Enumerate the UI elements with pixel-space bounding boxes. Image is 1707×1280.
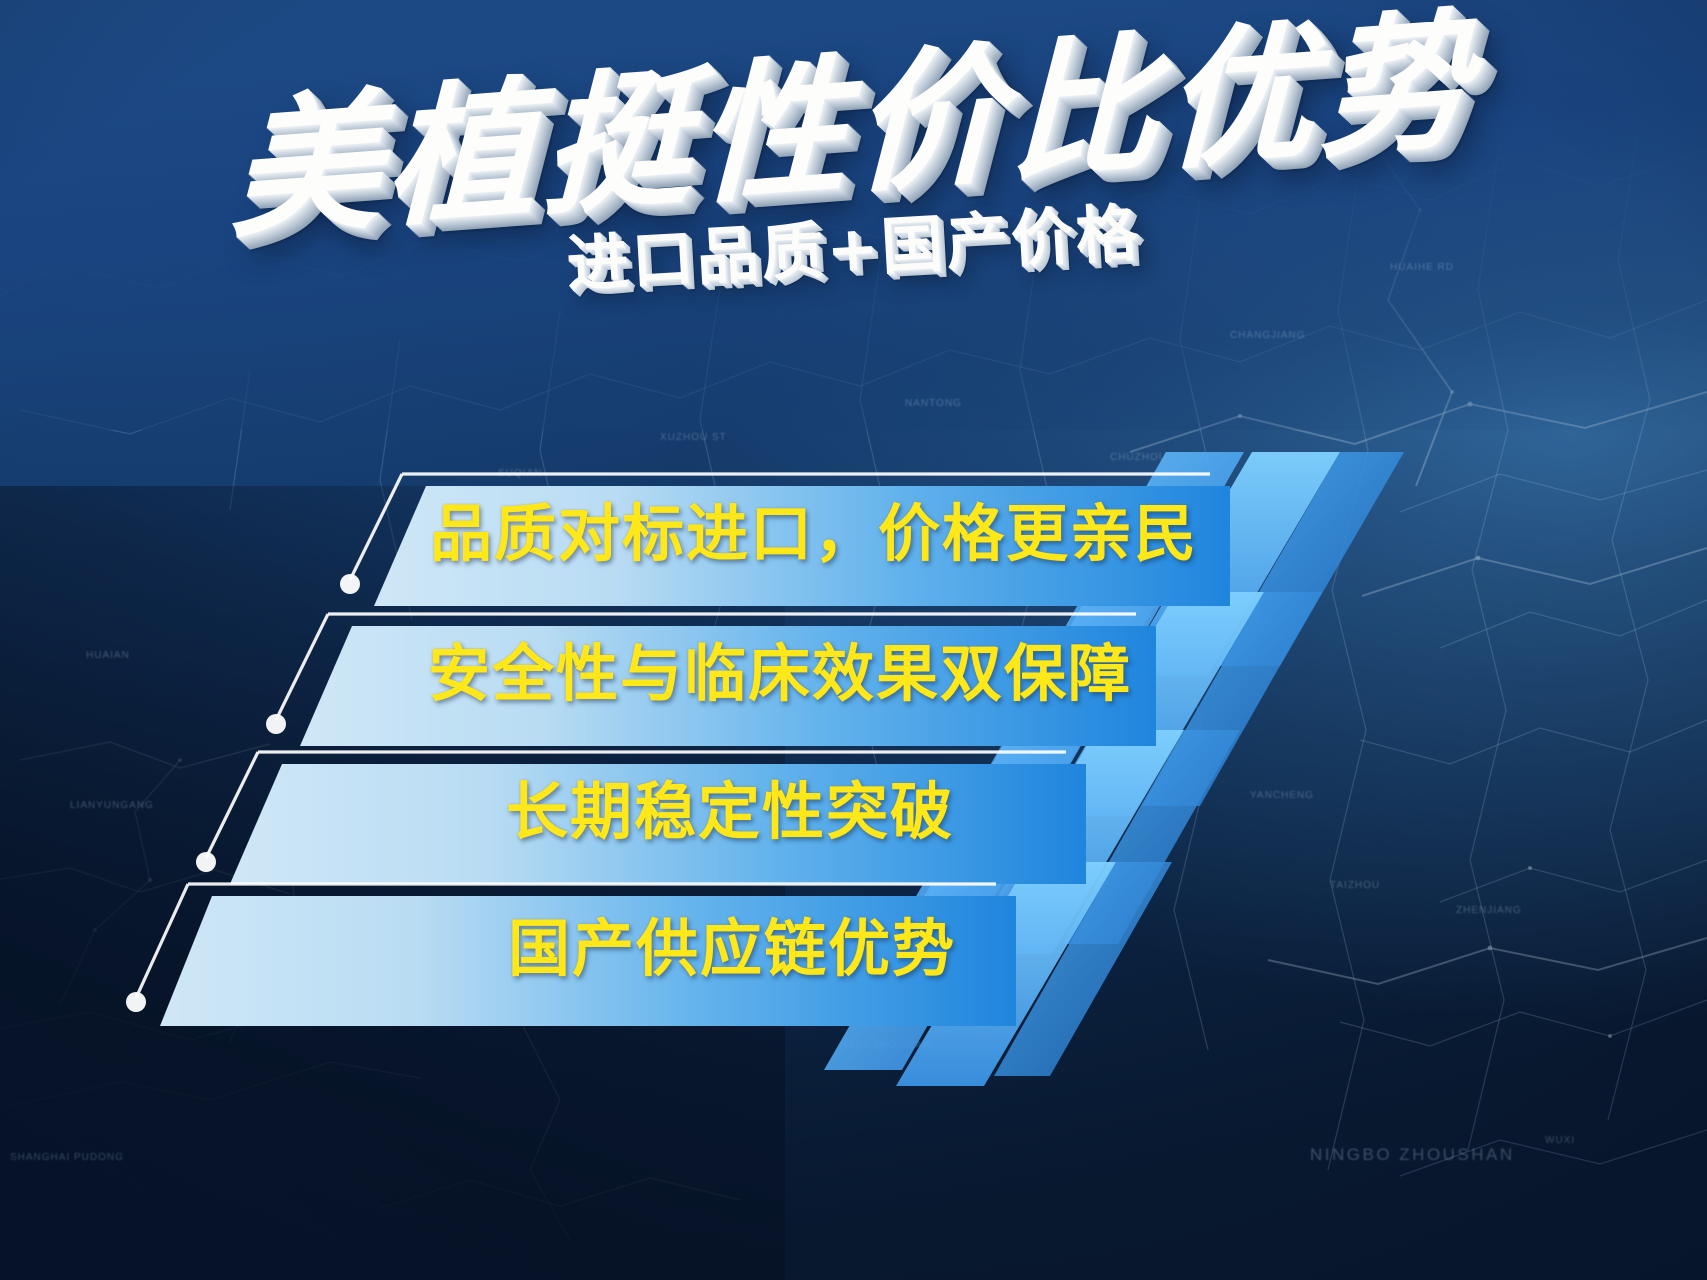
feature-label: 长期稳定性突破 xyxy=(506,761,954,851)
feature-label: 国产供应链优势 xyxy=(508,898,956,988)
feature-row: 安全性与临床效果双保障 xyxy=(256,588,1156,748)
feature-row: 品质对标进口，价格更亲民 xyxy=(330,448,1230,608)
feature-label: 安全性与临床效果双保障 xyxy=(428,623,1132,713)
feature-label: 品质对标进口，价格更亲民 xyxy=(430,483,1198,573)
feature-row: 国产供应链优势 xyxy=(116,858,1016,1028)
title-block: 美植挺性价比优势 进口品质+国产价格 xyxy=(0,52,1707,288)
poster-root: CHANGJIANG HUAIHE RD NANTONG XUZHOU ST S… xyxy=(0,0,1707,1280)
